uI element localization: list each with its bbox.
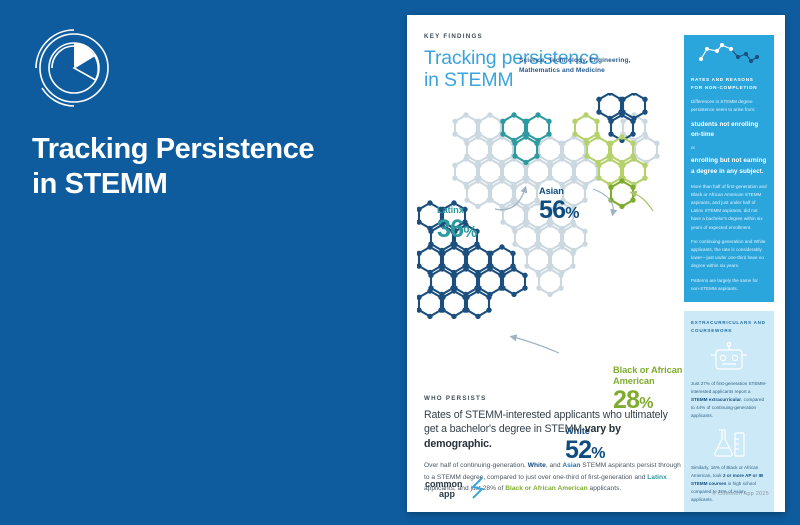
cover-title-line-1: Tracking Persistence <box>32 132 362 167</box>
sidebar-top-point-2: enrolling but not earning a degree in an… <box>691 156 767 176</box>
key-findings-eyebrow: KEY FINDINGS <box>424 33 674 40</box>
document-subtitle: Science, Technology, Engineering, Mathem… <box>519 56 659 75</box>
logo-text-app: app <box>439 489 456 499</box>
sidebar-top-point-1: students not enrolling on-time <box>691 120 767 140</box>
sidebar-top-heading: RATES AND REASONS FOR NON-COMPLETION <box>691 76 767 92</box>
common-app-logo: common app <box>425 476 491 502</box>
robot-icon <box>709 342 749 374</box>
document-title-line-2: in STEMM <box>424 69 513 91</box>
pie-chart-circles-icon <box>28 22 120 114</box>
who-persists-lead: Rates of STEMM-interested applicants who… <box>424 408 682 451</box>
sidebar-top-paragraph-2: For continuing-generation and White appl… <box>691 238 767 271</box>
sidebar-top-intro: Differences in STEMM degree persistence … <box>691 98 767 114</box>
sidebar-top-connector: or <box>691 145 767 150</box>
stat-asian-value: 56% <box>539 198 579 223</box>
page-title: Tracking Persistencein STEMM <box>32 132 362 203</box>
stat-latinx: Latinx 36% <box>437 205 477 242</box>
molecule-hexagon-chart: Latinx 36% Asian 56% Black or African Am… <box>417 93 687 383</box>
stat-asian: Asian 56% <box>539 186 579 223</box>
stat-latinx-value: 36% <box>437 217 477 242</box>
sidebar-top-paragraph-1: More than half of first-generation and B… <box>691 183 767 232</box>
logo-text-common: common <box>425 479 463 489</box>
sidebar: RATES AND REASONS FOR NON-COMPLETION Dif… <box>684 35 774 512</box>
molecule-chain-icon <box>698 43 760 69</box>
copyright-text: © Common App 2025 <box>712 491 769 497</box>
cover-panel: Tracking Persistencein STEMM <box>0 0 400 525</box>
cover-title-line-2: in STEMM <box>32 167 362 202</box>
document-page: KEY FINDINGS Tracking persistence in STE… <box>407 15 785 512</box>
sidebar-top-paragraph-3: Patterns are largely the same for non-ST… <box>691 277 767 293</box>
document-footer: common app © Common App 2025 <box>407 466 785 512</box>
sb-stat1-pre: Just 27% of first-generation STEMM-inter… <box>691 381 767 394</box>
sidebar-bottom-heading: EXTRACURRICULARS AND COURSEWORK <box>691 319 767 335</box>
who-persists-lead-plain: Rates of STEMM-interested applicants who… <box>424 409 668 435</box>
who-persists-eyebrow: WHO PERSISTS <box>424 395 682 402</box>
sb-stat1-bold: STEMM extracurricular <box>691 397 741 402</box>
sidebar-rates-and-reasons: RATES AND REASONS FOR NON-COMPLETION Dif… <box>684 35 774 302</box>
flask-beaker-icon <box>710 428 748 458</box>
sidebar-bottom-stat-1: Just 27% of first-generation STEMM-inter… <box>691 380 767 421</box>
